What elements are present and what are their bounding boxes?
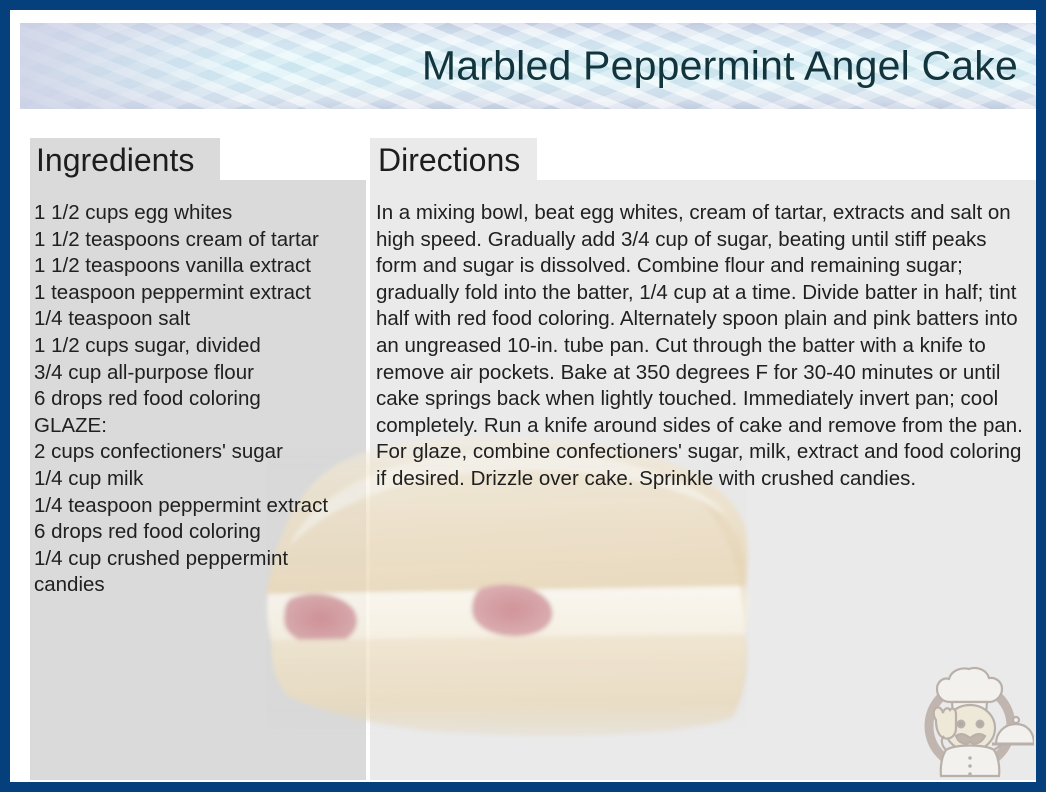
list-item: 1 1/2 cups egg whites [34,200,354,227]
recipe-card: Marbled Peppermint Angel Cake [0,0,1046,792]
ingredients-list: 1 1/2 cups egg whites 1 1/2 teaspoons cr… [34,200,354,599]
chef-mascot-logo [906,658,1034,780]
list-item: 1 teaspoon peppermint extract [34,280,354,307]
list-item: 6 drops red food coloring [34,386,354,413]
list-item: 1/4 teaspoon peppermint extract [34,493,354,520]
list-item: 1 1/2 teaspoons vanilla extract [34,253,354,280]
page-title: Marbled Peppermint Angel Cake [422,46,1018,87]
ingredients-heading: Ingredients [36,144,194,176]
directions-body: In a mixing bowl, beat egg whites, cream… [376,200,1026,493]
list-item: 1/4 cup crushed peppermint candies [34,546,354,599]
list-item: 6 drops red food coloring [34,519,354,546]
list-item: 2 cups confectioners' sugar [34,439,354,466]
list-item: 1/4 teaspoon salt [34,306,354,333]
header-banner: Marbled Peppermint Angel Cake [20,23,1036,109]
list-item: 3/4 cup all-purpose flour [34,360,354,387]
list-item: 1 1/2 teaspoons cream of tartar [34,227,354,254]
list-item: GLAZE: [34,413,354,440]
directions-heading: Directions [378,144,520,176]
list-item: 1/4 cup milk [34,466,354,493]
list-item: 1 1/2 cups sugar, divided [34,333,354,360]
